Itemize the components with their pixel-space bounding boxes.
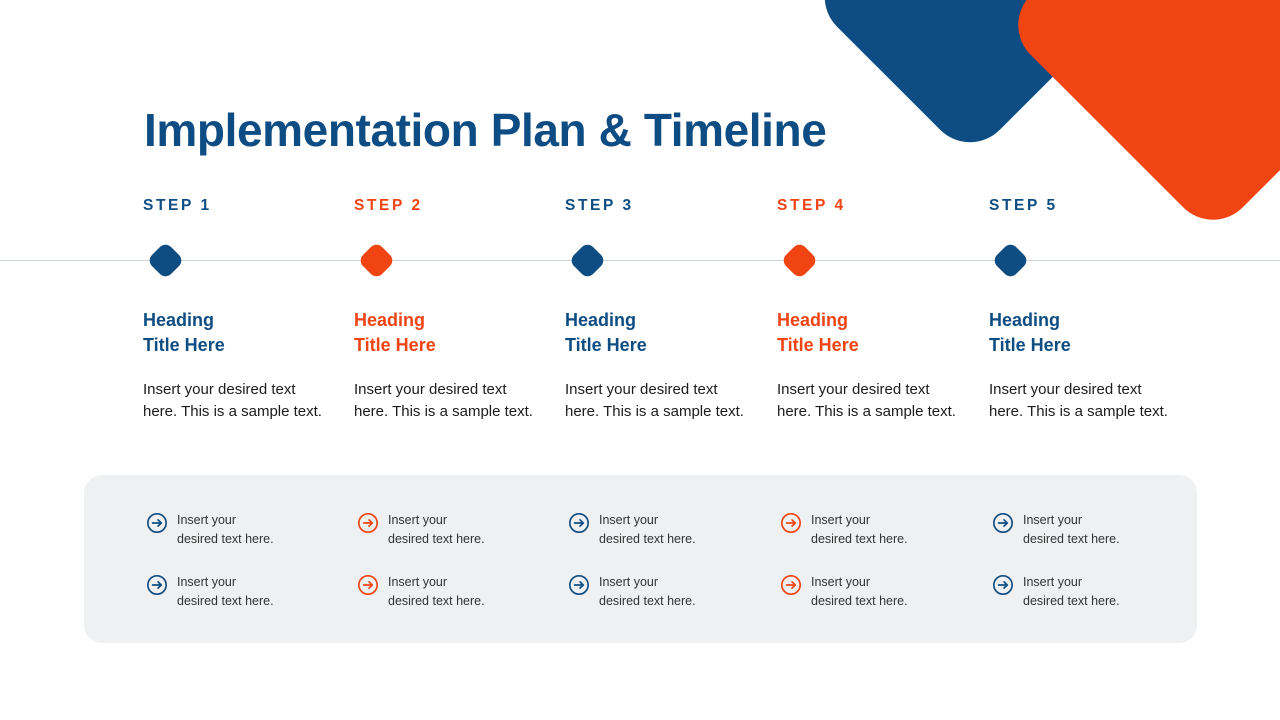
bullet-text: Insert your desired text here. <box>811 511 908 548</box>
step-label-1: STEP 1 <box>143 198 343 214</box>
list-item: Insert your desired text here. <box>992 573 1120 610</box>
step-body-3: Insert your desired text here. This is a… <box>565 379 751 423</box>
arrow-circle-right-icon <box>992 574 1014 596</box>
step-heading-2: Heading Title Here <box>354 308 436 358</box>
timeline-step-1: STEP 1Heading Title HereInsert your desi… <box>143 198 343 214</box>
step-marker-2-diamond-orange-icon <box>357 241 395 279</box>
step-label-3: STEP 3 <box>565 198 765 214</box>
step-label-2: STEP 2 <box>354 198 554 214</box>
arrow-circle-right-icon <box>568 512 590 534</box>
step-heading-4: Heading Title Here <box>777 308 859 358</box>
bullet-text: Insert your desired text here. <box>599 511 696 548</box>
list-item: Insert your desired text here. <box>357 573 485 610</box>
arrow-circle-right-icon <box>357 574 379 596</box>
bullet-text: Insert your desired text here. <box>599 573 696 610</box>
step-marker-1-diamond-blue-icon <box>146 241 184 279</box>
timeline-step-5: STEP 5Heading Title HereInsert your desi… <box>989 198 1189 214</box>
list-item: Insert your desired text here. <box>146 573 274 610</box>
list-item: Insert your desired text here. <box>568 511 696 548</box>
list-item: Insert your desired text here. <box>357 511 485 548</box>
arrow-circle-right-icon <box>146 512 168 534</box>
slide-canvas: Implementation Plan & Timeline STEP 1Hea… <box>0 0 1280 720</box>
arrow-circle-right-icon <box>780 574 802 596</box>
step-body-2: Insert your desired text here. This is a… <box>354 379 540 423</box>
bullet-text: Insert your desired text here. <box>177 511 274 548</box>
step-label-4: STEP 4 <box>777 198 977 214</box>
bullet-panel: Insert your desired text here.Insert you… <box>84 475 1197 643</box>
timeline-step-4: STEP 4Heading Title HereInsert your desi… <box>777 198 977 214</box>
bullet-text: Insert your desired text here. <box>388 573 485 610</box>
list-item: Insert your desired text here. <box>780 511 908 548</box>
bullet-text: Insert your desired text here. <box>811 573 908 610</box>
step-body-1: Insert your desired text here. This is a… <box>143 379 329 423</box>
bullet-text: Insert your desired text here. <box>388 511 485 548</box>
arrow-circle-right-icon <box>992 512 1014 534</box>
list-item: Insert your desired text here. <box>568 573 696 610</box>
arrow-circle-right-icon <box>568 574 590 596</box>
list-item: Insert your desired text here. <box>992 511 1120 548</box>
step-heading-5: Heading Title Here <box>989 308 1071 358</box>
step-heading-1: Heading Title Here <box>143 308 225 358</box>
bullet-text: Insert your desired text here. <box>1023 511 1120 548</box>
bullet-text: Insert your desired text here. <box>1023 573 1120 610</box>
step-marker-5-diamond-blue-icon <box>991 241 1029 279</box>
arrow-circle-right-icon <box>146 574 168 596</box>
timeline-step-2: STEP 2Heading Title HereInsert your desi… <box>354 198 554 214</box>
step-label-5: STEP 5 <box>989 198 1189 214</box>
timeline-step-3: STEP 3Heading Title HereInsert your desi… <box>565 198 765 214</box>
step-heading-3: Heading Title Here <box>565 308 647 358</box>
step-body-4: Insert your desired text here. This is a… <box>777 379 963 423</box>
list-item: Insert your desired text here. <box>146 511 274 548</box>
bullet-text: Insert your desired text here. <box>177 573 274 610</box>
list-item: Insert your desired text here. <box>780 573 908 610</box>
step-marker-4-diamond-orange-icon <box>780 241 818 279</box>
arrow-circle-right-icon <box>780 512 802 534</box>
step-marker-3-diamond-blue-icon <box>568 241 606 279</box>
arrow-circle-right-icon <box>357 512 379 534</box>
step-body-5: Insert your desired text here. This is a… <box>989 379 1175 423</box>
